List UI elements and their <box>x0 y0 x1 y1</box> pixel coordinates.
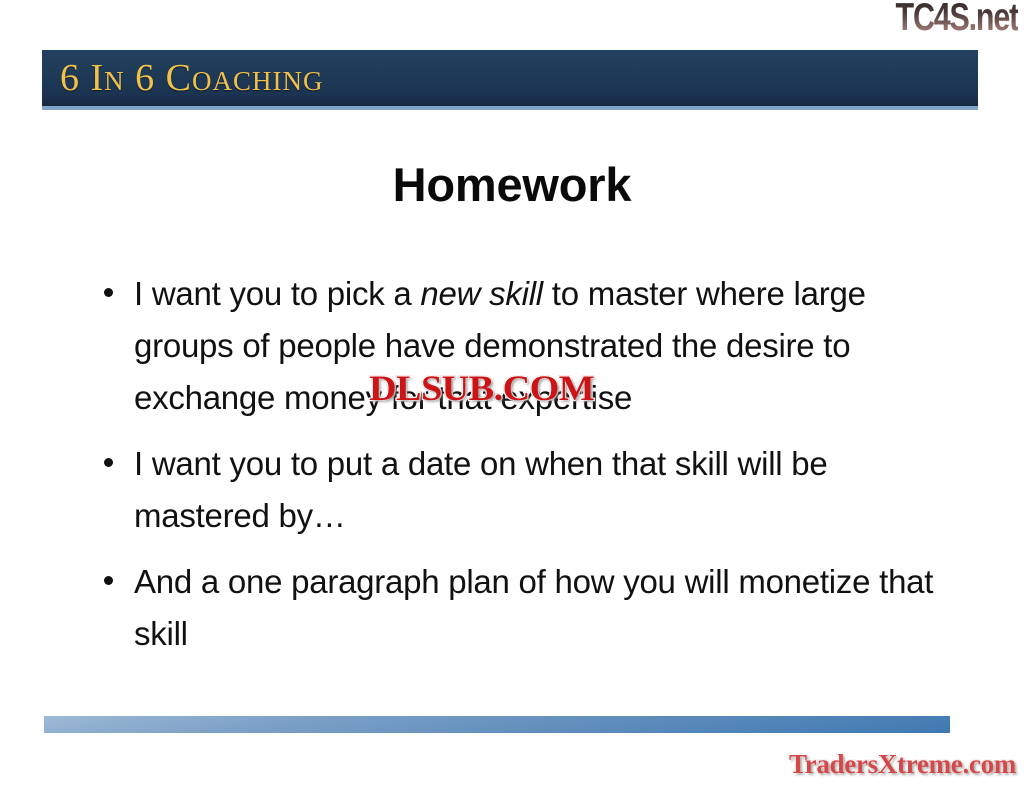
page-title: Homework <box>0 157 1024 212</box>
bullet-dot-icon <box>104 576 113 585</box>
header-banner: 6 In 6 Coaching <box>42 50 978 110</box>
list-item-text: I want you to put a date on when that sk… <box>134 445 828 534</box>
list-item-text-prefix: I want you to pick a <box>134 275 420 312</box>
list-item-text: And a one paragraph plan of how you will… <box>134 563 933 652</box>
header-banner-title: 6 In 6 Coaching <box>60 56 324 100</box>
list-item: And a one paragraph plan of how you will… <box>98 556 946 660</box>
list-item-text-prefix: I want you to put a date on when that sk… <box>134 445 828 534</box>
footer-bar <box>44 716 950 733</box>
bullet-dot-icon <box>104 288 113 297</box>
list-item-text-prefix: And a one paragraph plan of how you will… <box>134 563 933 652</box>
bullet-dot-icon <box>104 458 113 467</box>
dlsub-watermark: DLSUB.COM <box>369 369 594 409</box>
tc4s-watermark: TC4S.net <box>896 0 1018 39</box>
list-item: I want you to put a date on when that sk… <box>98 438 946 542</box>
bullet-list: I want you to pick a new skill to master… <box>98 268 946 660</box>
tradersxtreme-watermark: TradersXtreme.com <box>789 750 1016 780</box>
list-item-text-emphasis: new skill <box>420 275 542 312</box>
